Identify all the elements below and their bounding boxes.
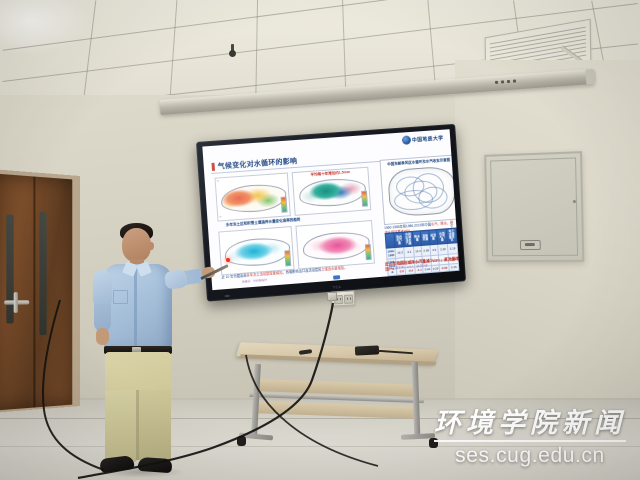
presenter-head [122, 228, 151, 262]
laser-dot-icon [226, 258, 230, 262]
presenter-right-sleeve [164, 269, 188, 290]
china-outline [387, 166, 456, 218]
table-caster-icon [237, 436, 246, 446]
table-leg [251, 364, 261, 436]
presentation-slide: 中国地质大学 气候变化对水循环的影响 60 30 平均每十年增加约1.5mm [202, 129, 459, 290]
table-row-label: 1960-1985 [386, 248, 396, 259]
map-top-right: 平均每十年增加约1.5mm [292, 167, 372, 216]
shirt-pocket [113, 290, 128, 304]
university-logo: 中国地质大学 [402, 134, 444, 145]
map-top-right-caption: 平均每十年增加约1.5mm [293, 169, 368, 179]
door-frame [0, 169, 80, 413]
note-left-prefix: 近 10 年青藏高原 [221, 273, 246, 279]
map-bottom-right [295, 220, 375, 269]
note-left-prefix-2: 及活动层底 [305, 268, 321, 273]
note-left-suffix-1: ，热喀斯特出口 [282, 269, 305, 275]
university-emblem-icon [402, 136, 410, 144]
map-plot-area [298, 177, 367, 208]
slide-page-chip [333, 275, 340, 279]
note-left-highlight-2: 土壤含水量增加 [321, 266, 344, 272]
folding-table[interactable] [237, 346, 445, 466]
wall-access-panel[interactable] [484, 151, 584, 262]
table-header-cell: 地下水储量变化 [446, 228, 457, 244]
display-brand: TCL [332, 284, 342, 290]
wall-mounted-display[interactable]: 中国地质大学 气候变化对水循环的影响 60 30 平均每十年增加约1.5mm [196, 124, 466, 302]
fire-sprinkler-icon [229, 44, 236, 57]
presenter-right-leg [139, 390, 171, 462]
map-top-left: 60 30 [215, 172, 291, 221]
map-bottom-left [218, 226, 294, 275]
presenter-ear [149, 242, 154, 250]
wooden-double-door[interactable] [0, 173, 72, 410]
watermark-chinese: 环境学院新闻 [434, 410, 626, 438]
map-colorbar [281, 197, 288, 213]
classroom-photo-scene: 中国地质大学 气候变化对水循环的影响 60 30 平均每十年增加约1.5mm [0, 0, 640, 480]
watermark-divider [434, 440, 626, 442]
note-left-suffix-2: 。 [344, 266, 348, 270]
citation-left: 张建云，中科院院刊 [242, 278, 267, 284]
watermark-url: ses.cug.edu.cn [434, 444, 626, 468]
panel-hinge-icon [573, 200, 576, 203]
map-plot-area [220, 183, 287, 214]
power-plug [327, 292, 337, 301]
map-colorbar [284, 250, 291, 266]
university-name: 中国地质大学 [412, 134, 444, 143]
ceiling-light-glow [0, 0, 90, 55]
watermark: 环境学院新闻 ses.cug.edu.cn [434, 410, 626, 468]
display-screen[interactable]: 中国地质大学 气候变化对水循环的影响 60 30 平均每十年增加约1.5mm [202, 129, 459, 290]
presenter-left-sleeve [93, 270, 112, 304]
casing-indicator-dots [495, 79, 516, 83]
presenter-shirt [104, 264, 172, 350]
china-map-caption: 中国东部季风区水循环及水汽收支示意图 [381, 157, 457, 167]
china-water-cycle-map: 中国东部季风区水循环及水汽收支示意图 [379, 154, 459, 225]
presenter-left-hand [96, 328, 109, 345]
title-accent-bar [211, 163, 215, 171]
ir-receiver-icon [225, 295, 230, 297]
map-colorbar [361, 191, 368, 207]
map-plot-area [224, 236, 291, 267]
table-item-adapter [355, 345, 379, 355]
map-colorbar [365, 244, 372, 260]
table-folded-panel [254, 401, 420, 419]
door-lock-icon[interactable] [14, 292, 18, 313]
presenter [86, 222, 214, 480]
presenter-right-shoe [138, 457, 173, 473]
shirt-placket [134, 268, 137, 348]
panel-latch-icon[interactable] [520, 240, 541, 250]
trouser-seam [136, 390, 139, 460]
table-leg [412, 362, 421, 434]
presenter-left-leg [105, 390, 137, 462]
map-plot-area [302, 230, 371, 261]
